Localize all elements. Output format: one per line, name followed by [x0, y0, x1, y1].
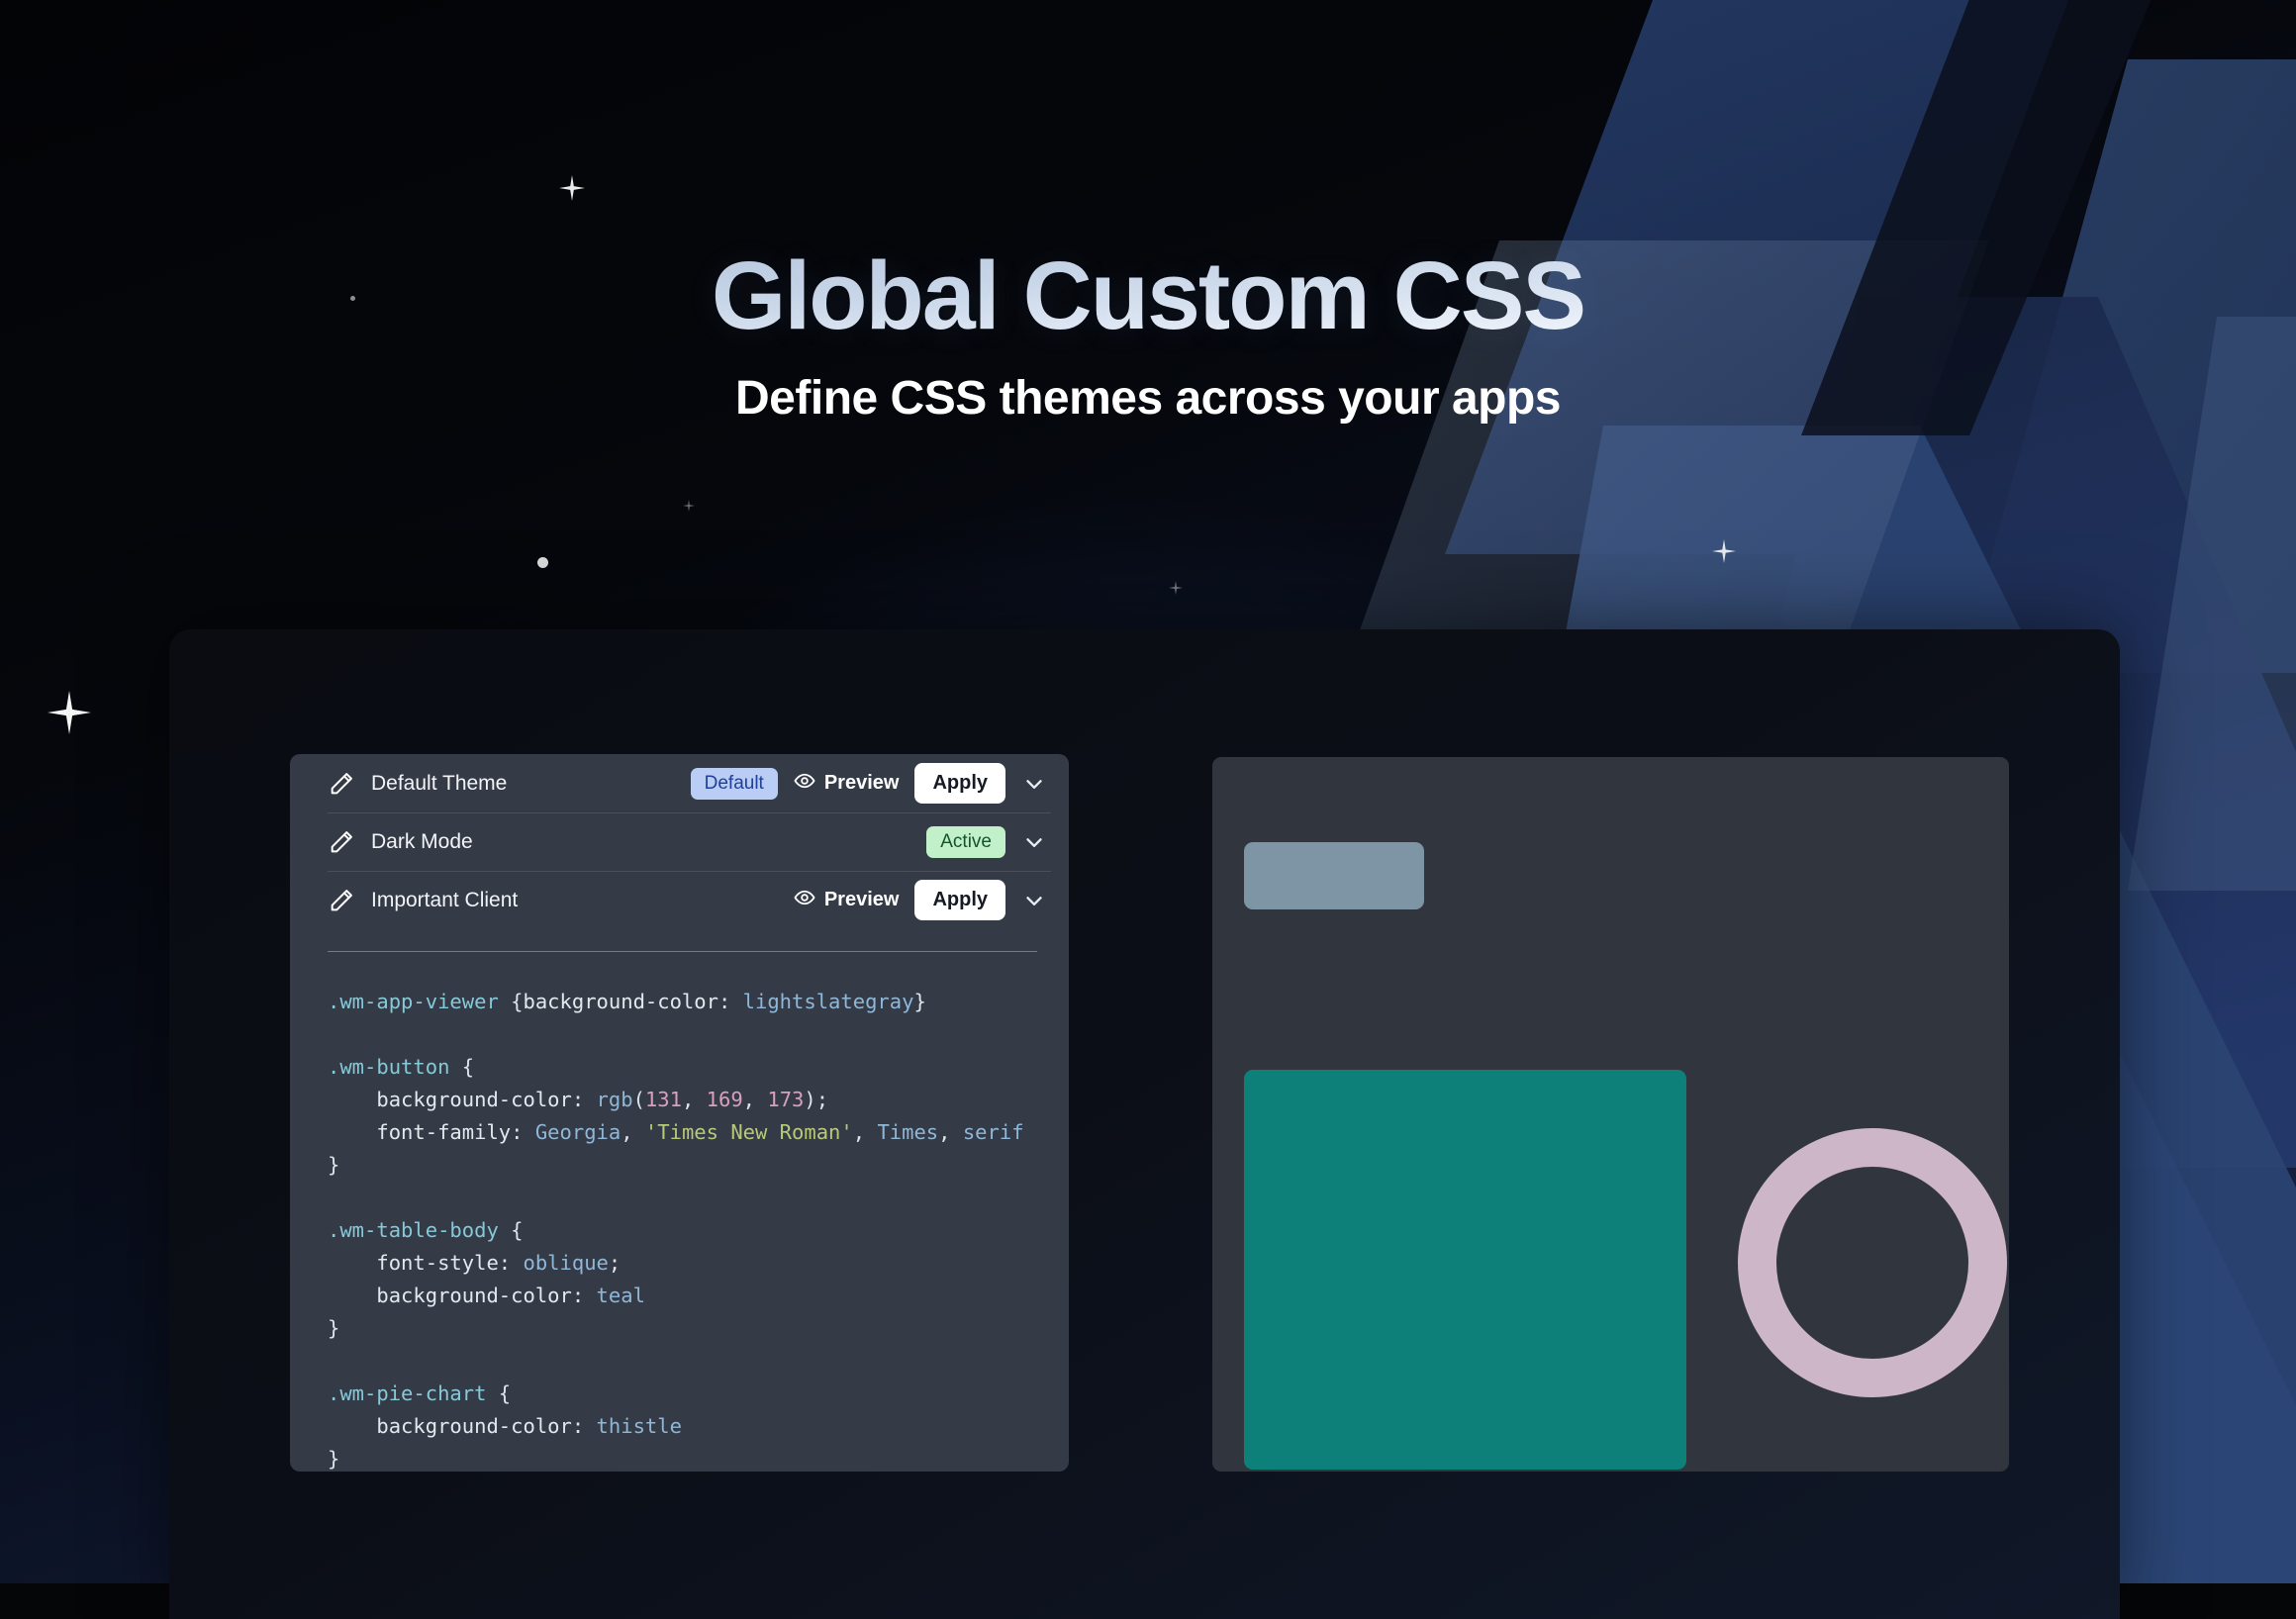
star-dot: [537, 557, 548, 568]
theme-name-label: Default Theme: [371, 772, 507, 796]
sparkle-icon: [48, 691, 91, 734]
pencil-icon[interactable]: [328, 770, 355, 798]
preview-button[interactable]: Preview: [794, 770, 900, 798]
status-badge-default: Default: [691, 768, 778, 800]
css-code-editor[interactable]: .wm-app-viewer {background-color: lights…: [290, 986, 1069, 1472]
panel-divider: [328, 951, 1037, 952]
chevron-down-icon[interactable]: [1021, 771, 1047, 797]
status-badge-active: Active: [926, 826, 1005, 858]
page-title: Global Custom CSS: [0, 247, 2296, 343]
theme-name-label: Important Client: [371, 889, 518, 912]
chevron-down-icon[interactable]: [1021, 829, 1047, 855]
theme-row-dark-mode[interactable]: Dark Mode Active: [290, 812, 1069, 871]
eye-icon: [794, 770, 815, 798]
apply-button[interactable]: Apply: [914, 763, 1005, 804]
apply-button[interactable]: Apply: [914, 880, 1005, 920]
eye-icon: [794, 887, 815, 914]
sparkle-icon: [1712, 539, 1736, 563]
theme-name-label: Dark Mode: [371, 830, 473, 854]
sparkle-icon: [683, 500, 695, 512]
pencil-icon[interactable]: [328, 887, 355, 914]
page-subtitle: Define CSS themes across your apps: [0, 371, 2296, 426]
preview-wm-pie-chart: [1738, 1128, 2007, 1397]
hero-header: Global Custom CSS Define CSS themes acro…: [0, 247, 2296, 426]
theme-manager-panel: Default Theme Default Preview Apply: [290, 754, 1069, 1472]
preview-button-label: Preview: [824, 772, 900, 795]
pencil-icon[interactable]: [328, 828, 355, 856]
preview-wm-button: [1244, 842, 1424, 909]
theme-row-default-theme[interactable]: Default Theme Default Preview Apply: [290, 754, 1069, 812]
sparkle-icon: [1169, 581, 1183, 595]
sparkle-icon: [559, 175, 585, 201]
preview-wm-table-body: [1244, 1070, 1686, 1470]
chevron-down-icon[interactable]: [1021, 888, 1047, 913]
theme-row-actions: Preview Apply: [794, 880, 1047, 920]
theme-row-important-client[interactable]: Important Client Preview Apply: [290, 871, 1069, 929]
preview-button-label: Preview: [824, 889, 900, 911]
theme-row-actions: Default Preview Apply: [691, 763, 1047, 804]
preview-button[interactable]: Preview: [794, 887, 900, 914]
app-preview-panel: [1212, 757, 2009, 1472]
theme-row-actions: Active: [926, 826, 1047, 858]
